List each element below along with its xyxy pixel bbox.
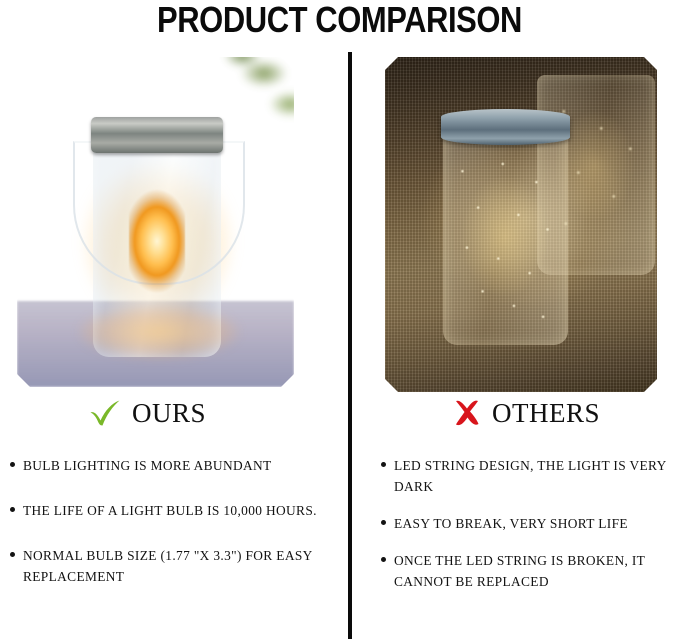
list-item: THE LIFE OF A LIGHT BULB IS 10,000 HOURS… bbox=[10, 500, 340, 521]
jar-fairy-light-scene bbox=[385, 57, 657, 392]
list-item: EASY TO BREAK, VERY SHORT LIFE bbox=[381, 513, 673, 534]
page-title: PRODUCT COMPARISON bbox=[48, 0, 632, 40]
verdict-others: OTHERS bbox=[452, 398, 600, 428]
list-item-text: ONCE THE LED STRING IS BROKEN, IT CANNOT… bbox=[394, 550, 673, 592]
edison-bulb bbox=[129, 185, 185, 293]
list-item: LED STRING DESIGN, THE LIGHT IS VERY DAR… bbox=[381, 455, 673, 497]
red-x-icon bbox=[452, 399, 482, 427]
feature-list-ours: BULB LIGHTING IS MORE ABUNDANT THE LIFE … bbox=[10, 455, 340, 611]
product-photo-ours bbox=[17, 57, 294, 387]
green-check-icon bbox=[88, 399, 122, 427]
verdict-label-others: OTHERS bbox=[492, 398, 600, 428]
list-item: NORMAL BULB SIZE (1.77 "X 3.3") FOR EASY… bbox=[10, 545, 340, 587]
bullet-dot-icon bbox=[381, 520, 386, 525]
list-item: ONCE THE LED STRING IS BROKEN, IT CANNOT… bbox=[381, 550, 673, 592]
bullet-dot-icon bbox=[10, 552, 15, 557]
column-divider bbox=[348, 52, 352, 639]
bullet-dot-icon bbox=[10, 507, 15, 512]
metal-jar-lid bbox=[91, 117, 223, 153]
light-spill-on-table bbox=[79, 305, 239, 359]
product-photo-others bbox=[385, 57, 657, 392]
jar-bulb-scene bbox=[17, 57, 294, 387]
list-item-text: THE LIFE OF A LIGHT BULB IS 10,000 HOURS… bbox=[23, 500, 317, 521]
verdict-label-ours: OURS bbox=[132, 398, 206, 428]
bullet-dot-icon bbox=[10, 462, 15, 467]
feature-list-others: LED STRING DESIGN, THE LIGHT IS VERY DAR… bbox=[381, 455, 673, 608]
list-item-text: NORMAL BULB SIZE (1.77 "X 3.3") FOR EASY… bbox=[23, 545, 340, 587]
verdict-ours: OURS bbox=[88, 398, 206, 428]
bullet-dot-icon bbox=[381, 557, 386, 562]
list-item-text: BULB LIGHTING IS MORE ABUNDANT bbox=[23, 455, 272, 476]
led-fairy-string bbox=[449, 153, 561, 335]
list-item-text: EASY TO BREAK, VERY SHORT LIFE bbox=[394, 513, 628, 534]
list-item: BULB LIGHTING IS MORE ABUNDANT bbox=[10, 455, 340, 476]
list-item-text: LED STRING DESIGN, THE LIGHT IS VERY DAR… bbox=[394, 455, 673, 497]
metal-jar-lid bbox=[441, 109, 570, 145]
bullet-dot-icon bbox=[381, 462, 386, 467]
